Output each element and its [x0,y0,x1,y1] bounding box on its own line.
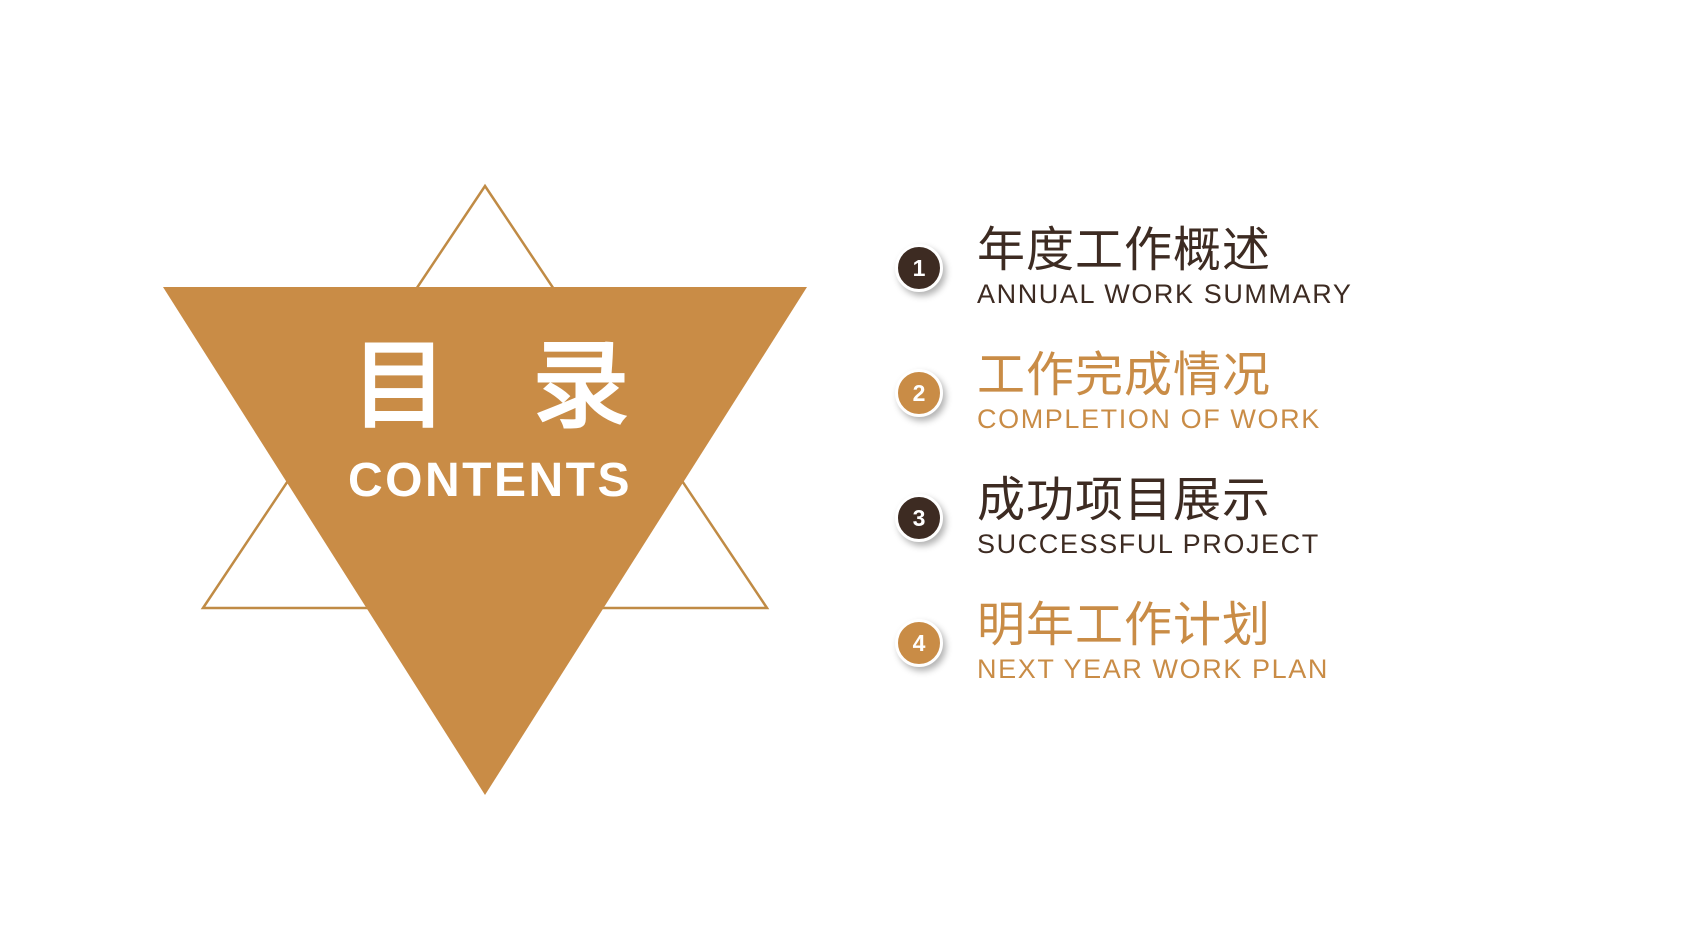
list-item[interactable]: 4 明年工作计划 NEXT YEAR WORK PLAN [895,597,1595,722]
filled-triangle [163,287,807,795]
status-badge: 4 [895,619,943,667]
list-item-subtitle: SUCCESSFUL PROJECT [977,528,1320,560]
star-of-david-icon [140,160,840,820]
agenda-list: 1 年度工作概述 ANNUAL WORK SUMMARY 2 工作完成情况 CO… [895,222,1595,722]
status-badge: 1 [895,244,943,292]
list-item[interactable]: 3 成功项目展示 SUCCESSFUL PROJECT [895,472,1595,597]
list-item[interactable]: 1 年度工作概述 ANNUAL WORK SUMMARY [895,222,1595,347]
list-item-text: 明年工作计划 NEXT YEAR WORK PLAN [977,597,1329,685]
list-item[interactable]: 2 工作完成情况 COMPLETION OF WORK [895,347,1595,472]
list-item-text: 年度工作概述 ANNUAL WORK SUMMARY [977,222,1352,310]
list-item-text: 工作完成情况 COMPLETION OF WORK [977,347,1321,435]
list-item-text: 成功项目展示 SUCCESSFUL PROJECT [977,472,1320,560]
status-badge: 2 [895,369,943,417]
list-item-subtitle: COMPLETION OF WORK [977,403,1321,435]
list-item-subtitle: ANNUAL WORK SUMMARY [977,278,1352,310]
status-badge: 3 [895,494,943,542]
contents-logo: 目 录 CONTENTS [140,160,840,820]
list-item-title: 成功项目展示 [977,472,1320,528]
list-item-title: 工作完成情况 [977,347,1321,403]
list-item-subtitle: NEXT YEAR WORK PLAN [977,653,1329,685]
list-item-title: 明年工作计划 [977,597,1329,653]
list-item-title: 年度工作概述 [977,222,1352,278]
slide-canvas: 目 录 CONTENTS 1 年度工作概述 ANNUAL WORK SUMMAR… [0,0,1687,949]
